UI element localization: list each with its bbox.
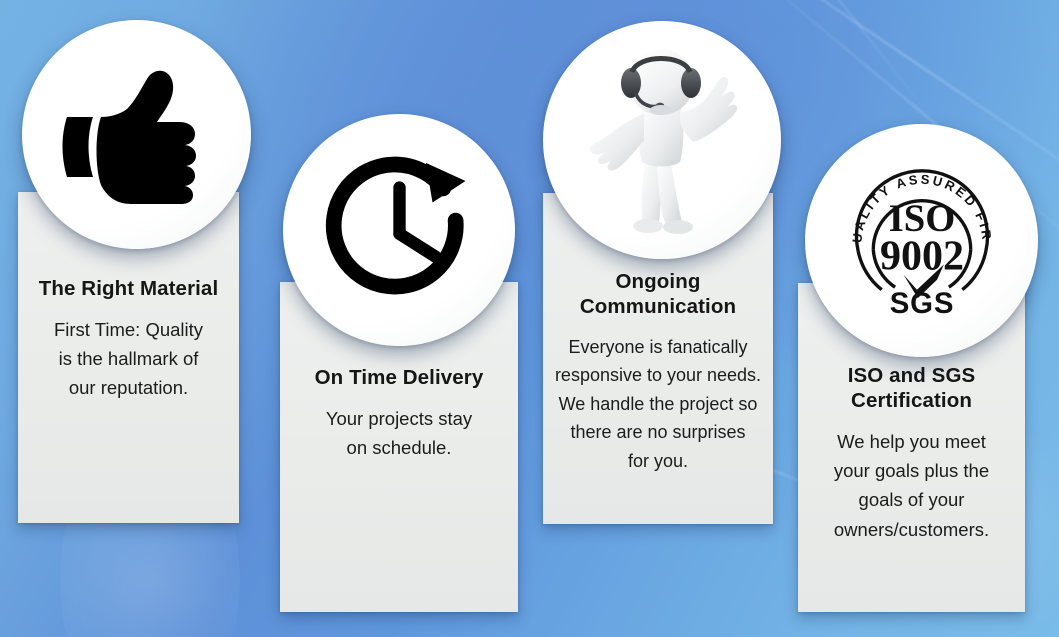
card-description: Your projects stay on schedule.	[290, 404, 508, 462]
icon-circle-right-material	[22, 20, 251, 249]
card-body: Ongoing Communication Everyone is fanati…	[543, 269, 773, 475]
card-description-line: is the hallmark of	[28, 344, 229, 373]
card-title-line: Communication	[553, 294, 763, 319]
card-title: The Right Material	[28, 276, 229, 301]
card-body: The Right Material First Time: Quality i…	[18, 276, 239, 403]
card-description-line: our reputation.	[28, 373, 229, 402]
card-description-line: We help you meet	[808, 427, 1015, 456]
card-body: ISO and SGS Certification We help you me…	[798, 363, 1025, 544]
card-title: Ongoing Communication	[553, 269, 763, 319]
card-title: ISO and SGS Certification	[808, 363, 1015, 413]
iso-9002-badge-icon: QUALITY ASSURED FIRM ISO 9002 SGS	[838, 157, 1006, 325]
card-description-line: your goals plus the	[808, 456, 1015, 485]
infographic-canvas: The Right Material First Time: Quality i…	[0, 0, 1059, 637]
card-description-line: Your projects stay	[290, 404, 508, 433]
icon-circle-on-time-delivery	[283, 114, 515, 346]
thumbs-up-icon	[57, 65, 217, 205]
iso-line-3: SGS	[889, 287, 954, 320]
card-description-line: owners/customers.	[808, 515, 1015, 544]
card-description-line: First Time: Quality	[28, 315, 229, 344]
iso-line-2: 9002	[880, 233, 964, 279]
card-body: On Time Delivery Your projects stay on s…	[280, 365, 518, 462]
card-description-line: Everyone is fanatically	[553, 333, 763, 361]
icon-circle-ongoing-communication	[543, 21, 781, 259]
card-description-line: goals of your	[808, 485, 1015, 514]
headset-person-icon	[562, 38, 762, 243]
card-title: On Time Delivery	[290, 365, 508, 390]
card-description: First Time: Quality is the hallmark of o…	[28, 315, 229, 403]
card-description-line: We handle the project so	[553, 390, 763, 418]
icon-circle-iso-sgs: QUALITY ASSURED FIRM ISO 9002 SGS	[805, 124, 1038, 357]
card-description: Everyone is fanatically responsive to yo…	[553, 333, 763, 475]
card-title-line: Ongoing	[553, 269, 763, 294]
card-description-line: responsive to your needs.	[553, 361, 763, 389]
clock-arrow-icon	[317, 148, 482, 313]
card-title-line: Certification	[808, 388, 1015, 413]
card-description-line: for you.	[553, 447, 763, 475]
card-description-line: on schedule.	[290, 433, 508, 462]
card-title-line: ISO and SGS	[808, 363, 1015, 388]
card-description-line: there are no surprises	[553, 418, 763, 446]
card-description: We help you meet your goals plus the goa…	[808, 427, 1015, 544]
